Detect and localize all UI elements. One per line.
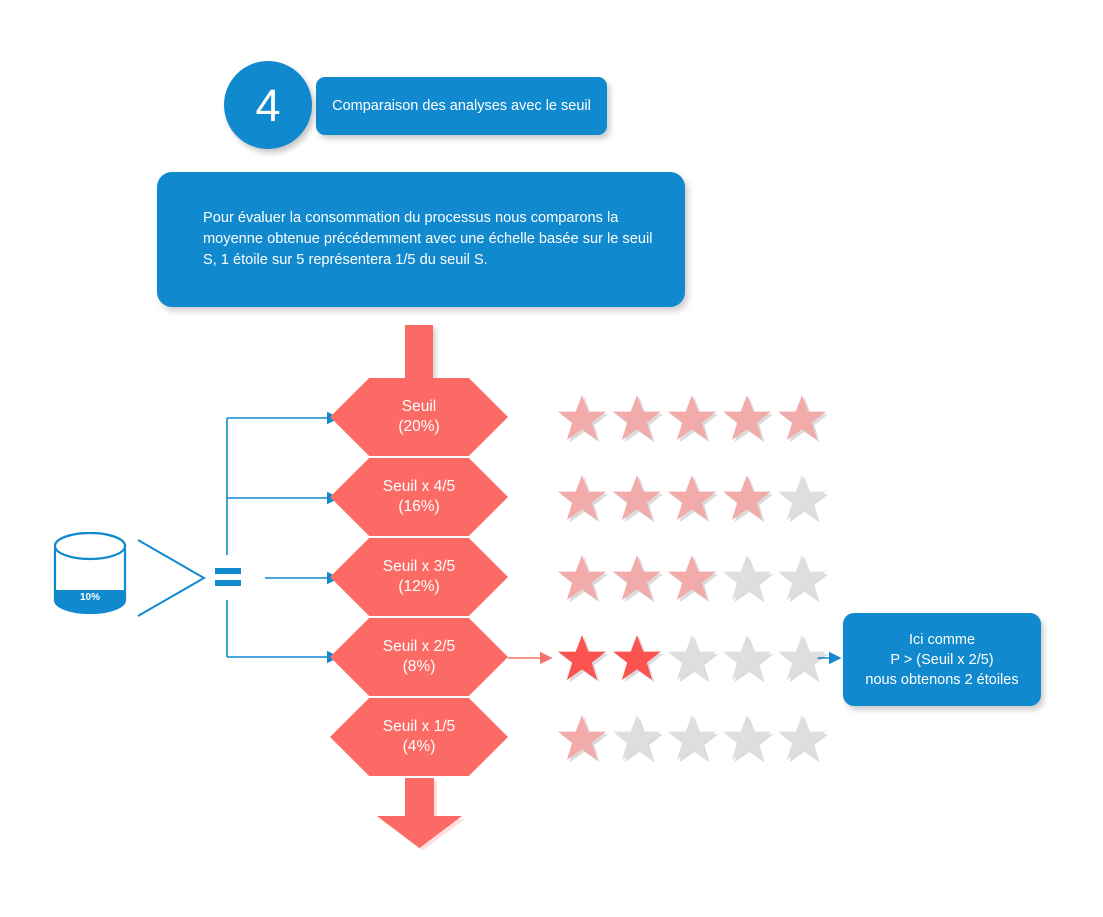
threshold-level-2[interactable]: Seuil x 4/5 (16%) xyxy=(330,458,508,536)
threshold-level-3[interactable]: Seuil x 3/5 (12%) xyxy=(330,538,508,616)
equals-bar-top xyxy=(215,568,241,574)
star-filled-icon xyxy=(556,473,608,523)
star-empty-icon xyxy=(776,713,828,763)
star-filled-icon xyxy=(556,393,608,443)
star-empty-icon xyxy=(721,713,773,763)
star-empty-icon xyxy=(776,633,828,683)
star-rating-row-4 xyxy=(556,633,828,683)
star-filled-icon xyxy=(666,553,718,603)
step-title-label: Comparaison des analyses avec le seuil xyxy=(318,97,605,115)
threshold-scale-stack: Seuil (20%) Seuil x 4/5 (16%) Seuil x 3/… xyxy=(330,378,510,778)
description-box: Pour évaluer la consommation du processu… xyxy=(157,172,685,307)
database-cylinder-icon xyxy=(53,532,127,614)
star-empty-icon xyxy=(776,553,828,603)
threshold-level-2-label: Seuil x 4/5 (16%) xyxy=(383,477,455,517)
star-filled-icon xyxy=(776,393,828,443)
equals-bar-bottom xyxy=(215,580,241,586)
star-empty-icon xyxy=(776,473,828,523)
star-rating-row-3 xyxy=(556,553,828,603)
star-filled-icon xyxy=(556,553,608,603)
star-rating-row-5 xyxy=(556,713,828,763)
star-rating-row-2 xyxy=(556,473,828,523)
threshold-level-5-label: Seuil x 1/5 (4%) xyxy=(383,717,455,757)
star-filled-icon xyxy=(611,473,663,523)
star-empty-icon xyxy=(666,713,718,763)
star-filled-icon xyxy=(611,393,663,443)
step-number-label: 4 xyxy=(255,83,280,128)
equals-operator-icon xyxy=(215,568,241,588)
star-filled-icon xyxy=(721,393,773,443)
star-rating-row-1 xyxy=(556,393,828,443)
star-filled-icon xyxy=(556,633,608,683)
star-empty-icon xyxy=(721,633,773,683)
step-number-badge: 4 xyxy=(224,61,312,149)
threshold-level-1-label: Seuil (20%) xyxy=(398,397,439,437)
threshold-level-4[interactable]: Seuil x 2/5 (8%) xyxy=(330,618,508,696)
star-filled-icon xyxy=(611,633,663,683)
threshold-level-4-label: Seuil x 2/5 (8%) xyxy=(383,637,455,677)
funnel-bottom-arrow-icon xyxy=(372,778,467,850)
star-empty-icon xyxy=(611,713,663,763)
star-filled-icon xyxy=(721,473,773,523)
description-text: Pour évaluer la consommation du processu… xyxy=(157,208,685,271)
result-callout-text: Ici comme P > (Seuil x 2/5) nous obtenon… xyxy=(865,630,1018,690)
threshold-level-1[interactable]: Seuil (20%) xyxy=(330,378,508,456)
diagram-canvas: 4 Comparaison des analyses avec le seuil… xyxy=(0,0,1103,917)
star-empty-icon xyxy=(666,633,718,683)
star-filled-icon xyxy=(666,393,718,443)
star-filled-icon xyxy=(611,553,663,603)
threshold-level-5[interactable]: Seuil x 1/5 (4%) xyxy=(330,698,508,776)
star-filled-icon xyxy=(556,713,608,763)
connector-lines xyxy=(0,0,1103,917)
threshold-level-3-label: Seuil x 3/5 (12%) xyxy=(383,557,455,597)
step-title-box: Comparaison des analyses avec le seuil xyxy=(316,77,607,135)
result-callout-box: Ici comme P > (Seuil x 2/5) nous obtenon… xyxy=(843,613,1041,706)
star-empty-icon xyxy=(721,553,773,603)
star-filled-icon xyxy=(666,473,718,523)
